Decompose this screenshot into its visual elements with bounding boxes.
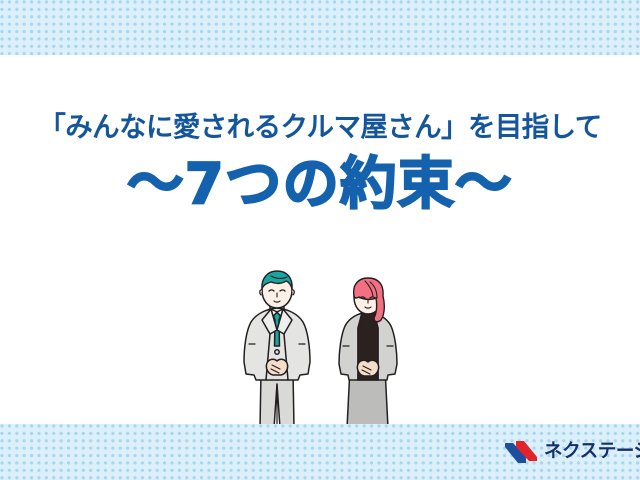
brand-wordmark: ネクステージ	[544, 443, 640, 462]
brand-logo-lockup: ネクステージ	[505, 441, 640, 463]
male-staff-figure	[244, 271, 310, 428]
female-staff-figure	[339, 278, 397, 428]
top-dot-band	[0, 0, 640, 55]
male-jacket-button	[275, 350, 279, 354]
two-bowing-staff-illustration	[236, 268, 416, 428]
staff-illustration-svg	[236, 268, 416, 428]
headline-block: 「みんなに愛されるクルマ屋さん」を目指して 〜7つの約束〜	[0, 112, 640, 214]
promotional-banner: 「みんなに愛されるクルマ屋さん」を目指して 〜7つの約束〜	[0, 0, 640, 480]
nextage-n-mark-icon	[505, 441, 537, 463]
headline-secondary: 〜7つの約束〜	[0, 156, 640, 215]
headline-primary: 「みんなに愛されるクルマ屋さん」を目指して	[0, 112, 640, 144]
